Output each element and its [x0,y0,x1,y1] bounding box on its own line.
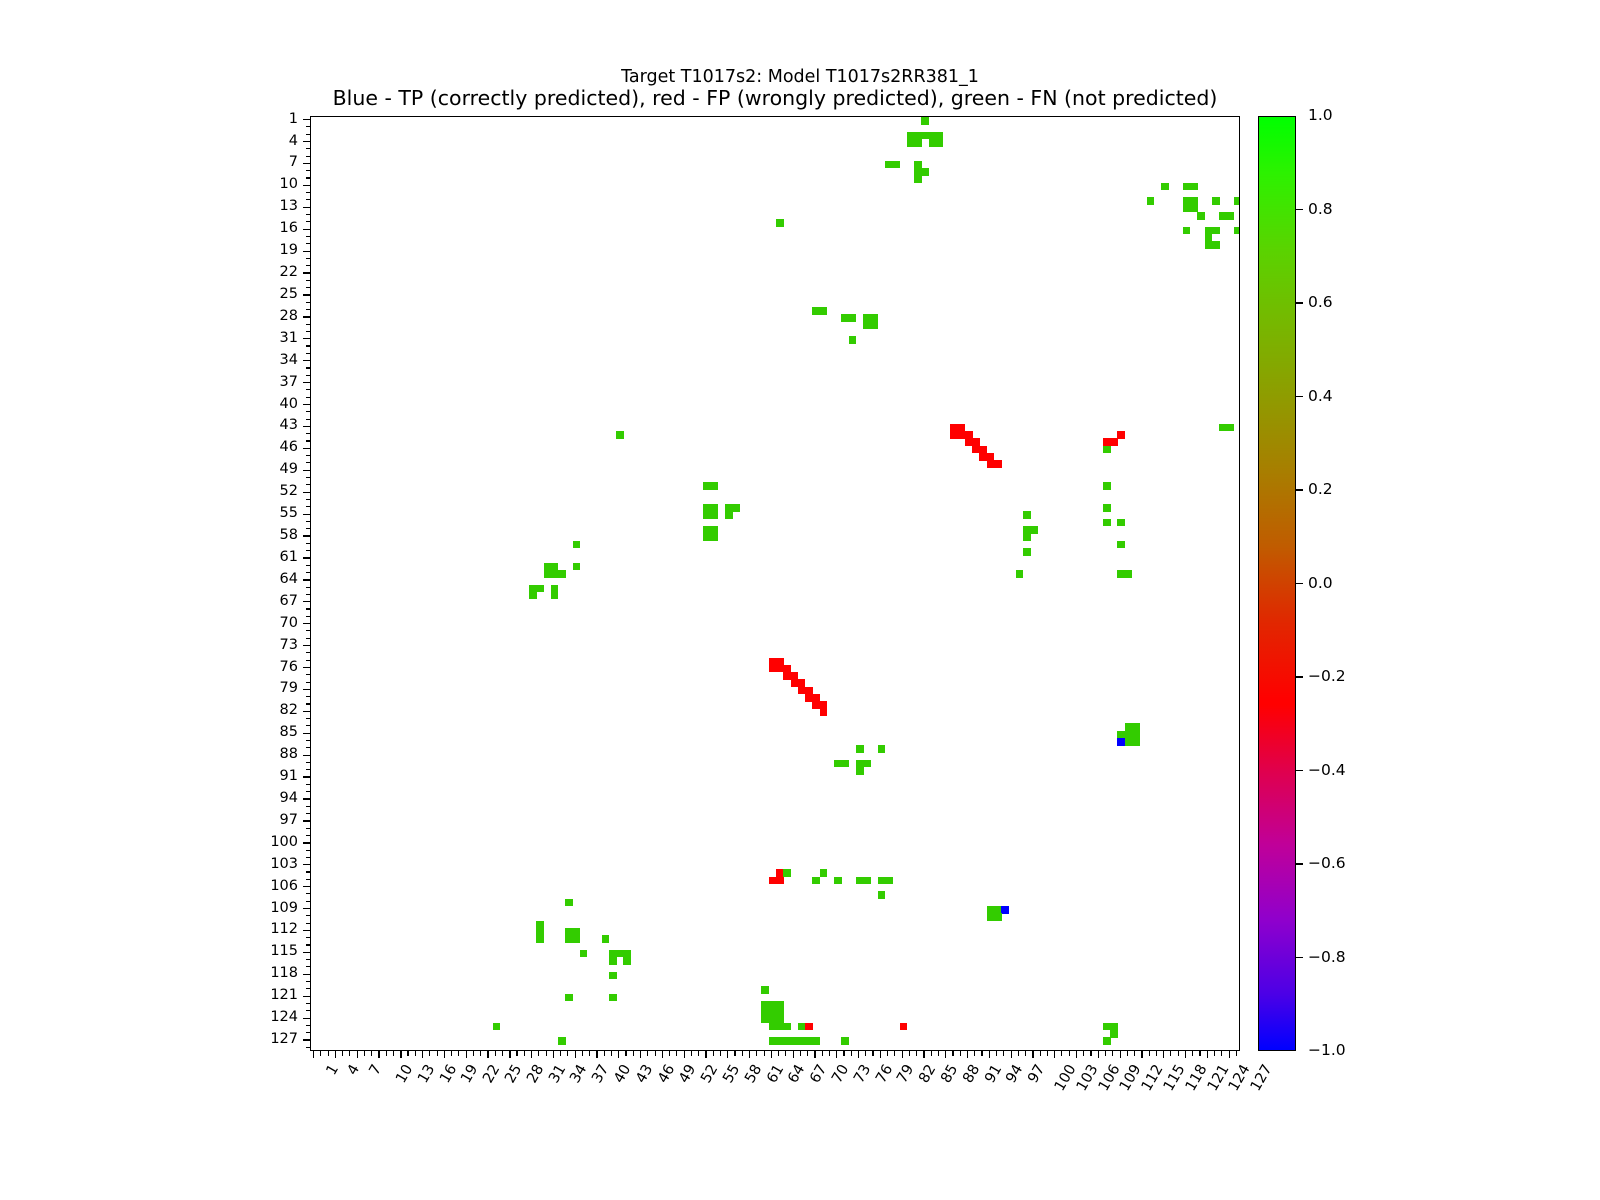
x-tick-98 [1018,1051,1019,1056]
x-tick-74 [843,1051,844,1056]
contact-cell-fn [885,877,893,885]
colorbar-tick-label-0.8: 0.8 [1308,200,1333,218]
x-tick-label-82: 82 [916,1062,939,1086]
y-tick-112 [303,930,310,931]
y-tick-label-25: 25 [240,286,298,302]
y-tick-83 [306,718,311,719]
y-tick-15 [306,221,311,222]
x-tick-2 [320,1051,321,1056]
contact-cell-fn [573,541,581,549]
x-tick-96 [1003,1051,1004,1056]
x-tick-58 [727,1051,728,1058]
contact-cell-fn [994,913,1002,921]
y-tick-66 [306,594,311,595]
y-tick-123 [306,1010,311,1011]
contact-cell-fn [493,1023,501,1031]
x-tick-102 [1047,1051,1048,1056]
y-tick-49 [303,470,310,471]
y-tick-label-28: 28 [240,308,298,324]
x-tick-111 [1112,1051,1113,1056]
x-tick-label-55: 55 [720,1062,743,1086]
x-tick-29 [516,1051,517,1056]
x-tick-56 [713,1051,714,1056]
x-tick-64 [771,1051,772,1058]
contact-cell-fp [820,709,828,717]
y-tick-60 [306,550,311,551]
contact-cell-fn [1023,511,1031,519]
y-tick-82 [303,711,310,712]
x-tick-118 [1163,1051,1164,1058]
x-tick-label-106: 106 [1095,1062,1123,1094]
y-tick-label-58: 58 [240,527,298,543]
y-tick-7 [303,163,310,164]
x-tick-49 [662,1051,663,1058]
y-tick-label-76: 76 [240,659,298,675]
contact-cell-fn [609,972,617,980]
y-tick-47 [306,455,311,456]
contact-map-cells [311,117,1239,1050]
y-tick-label-91: 91 [240,768,298,784]
x-tick-label-31: 31 [546,1062,569,1086]
y-tick-76 [303,667,310,668]
x-tick-label-100: 100 [1052,1062,1080,1094]
y-tick-97 [303,820,310,821]
x-tick-94 [989,1051,990,1058]
y-tick-114 [306,944,311,945]
x-tick-47 [647,1051,648,1056]
x-tick-85 [923,1051,924,1058]
y-tick-12 [306,199,311,200]
y-tick-119 [306,981,311,982]
contact-cell-fn [921,117,929,125]
x-tick-101 [1040,1051,1041,1056]
colorbar-tick-label-−0.4: −0.4 [1308,761,1346,779]
contact-cell-fn [565,899,573,907]
y-tick-108 [306,901,311,902]
y-tick-70 [303,623,310,624]
y-tick-110 [306,915,311,916]
y-tick-41 [306,411,311,412]
x-tick-label-118: 118 [1183,1062,1211,1094]
y-tick-label-49: 49 [240,461,298,477]
y-tick-78 [306,682,311,683]
x-tick-label-7: 7 [367,1062,385,1078]
y-tick-81 [306,703,311,704]
x-tick-28 [509,1051,510,1058]
contact-cell-fn [1110,1030,1118,1038]
contact-cell-fn [623,957,631,965]
contact-cell-fn [863,877,871,885]
y-tick-label-115: 115 [240,943,298,959]
y-tick-115 [303,952,310,953]
x-tick-109 [1098,1051,1099,1058]
colorbar-gradient [1258,116,1296,1051]
x-tick-69 [807,1051,808,1056]
contact-cell-fn [1023,548,1031,556]
x-tick-15 [415,1051,416,1056]
x-tick-125 [1214,1051,1215,1056]
y-tick-label-118: 118 [240,965,298,981]
y-tick-11 [306,192,311,193]
y-tick-39 [306,397,311,398]
x-tick-55 [705,1051,706,1058]
contact-map-plot-area[interactable] [310,116,1240,1051]
y-tick-65 [306,587,311,588]
y-tick-35 [306,367,311,368]
x-tick-123 [1199,1051,1200,1056]
x-tick-label-103: 103 [1074,1062,1102,1094]
x-tick-63 [764,1051,765,1056]
x-tick-59 [734,1051,735,1056]
contact-cell-fn [580,950,588,958]
colorbar-tick-0.4 [1296,396,1303,397]
x-tick-46 [640,1051,641,1058]
x-tick-110 [1105,1051,1106,1056]
y-tick-120 [306,988,311,989]
y-tick-48 [306,462,311,463]
x-tick-43 [618,1051,619,1058]
contact-cell-fn [1103,482,1111,490]
x-tick-61 [749,1051,750,1058]
x-tick-97 [1011,1051,1012,1058]
contact-cell-fn [921,168,929,176]
contact-cell-tp [1001,906,1009,914]
contact-cell-fp [994,460,1002,468]
y-tick-label-106: 106 [240,878,298,894]
colorbar-tick-0.2 [1296,489,1303,490]
x-tick-36 [567,1051,568,1056]
x-tick-8 [364,1051,365,1056]
contact-cell-fn [1226,424,1234,432]
x-tick-66 [785,1051,786,1056]
x-tick-72 [829,1051,830,1056]
x-tick-label-34: 34 [568,1062,591,1086]
x-tick-78 [872,1051,873,1056]
y-tick-17 [306,236,311,237]
contact-cell-fn [820,869,828,877]
x-tick-18 [437,1051,438,1056]
y-tick-52 [303,492,310,493]
y-tick-22 [303,272,310,273]
contact-cell-fn [1234,227,1240,235]
y-tick-99 [306,835,311,836]
y-tick-label-55: 55 [240,505,298,521]
contact-cell-fn [616,431,624,439]
y-tick-23 [306,280,311,281]
y-tick-19 [303,251,310,252]
x-tick-60 [742,1051,743,1056]
y-tick-label-103: 103 [240,856,298,872]
y-tick-label-124: 124 [240,1009,298,1025]
y-tick-10 [303,185,310,186]
contact-cell-fn [536,935,544,943]
x-tick-label-28: 28 [524,1062,547,1086]
x-tick-label-127: 127 [1248,1062,1276,1094]
contact-cell-fn [1103,519,1111,527]
y-tick-9 [306,177,311,178]
y-tick-14 [306,214,311,215]
contact-cell-fn [812,877,820,885]
x-tick-33 [546,1051,547,1056]
colorbar-tick-label-0.2: 0.2 [1308,480,1333,498]
contact-cell-fn [1117,519,1125,527]
contact-cell-fn [863,760,871,768]
contact-cell-fp [1117,431,1125,439]
y-tick-77 [306,674,311,675]
x-tick-92 [974,1051,975,1056]
x-tick-12 [393,1051,394,1056]
y-tick-3 [306,134,311,135]
x-tick-45 [633,1051,634,1056]
x-tick-114 [1134,1051,1135,1056]
x-tick-62 [756,1051,757,1056]
x-tick-90 [960,1051,961,1056]
x-tick-106 [1076,1051,1077,1058]
x-tick-label-43: 43 [633,1062,656,1086]
y-tick-25 [303,294,310,295]
y-tick-45 [306,440,311,441]
x-tick-22 [466,1051,467,1058]
contact-cell-fn [711,511,719,519]
x-tick-label-13: 13 [415,1062,438,1086]
x-tick-32 [538,1051,539,1056]
contact-cell-fn [856,767,864,775]
x-tick-label-37: 37 [589,1062,612,1086]
x-tick-label-73: 73 [851,1062,874,1086]
x-tick-42 [611,1051,612,1056]
contact-cell-fn [914,175,922,183]
contact-cell-fn [834,877,842,885]
x-tick-108 [1090,1051,1091,1056]
y-tick-75 [306,660,311,661]
x-tick-77 [865,1051,866,1056]
x-tick-label-97: 97 [1025,1062,1048,1086]
x-tick-19 [444,1051,445,1058]
contact-cell-fn [602,935,610,943]
y-tick-125 [306,1025,311,1026]
y-tick-74 [306,652,311,653]
y-tick-5 [306,148,311,149]
contact-cell-fn [558,1037,566,1045]
contact-cell-fn [573,935,581,943]
x-tick-113 [1127,1051,1128,1056]
x-tick-87 [938,1051,939,1056]
y-tick-63 [306,572,311,573]
y-tick-50 [306,477,311,478]
y-tick-36 [306,375,311,376]
x-tick-117 [1156,1051,1157,1056]
y-tick-53 [306,499,311,500]
contact-cell-fn [1016,570,1024,578]
colorbar-tick-label-−1.0: −1.0 [1308,1041,1346,1059]
x-tick-115 [1141,1051,1142,1058]
x-tick-84 [916,1051,917,1056]
y-tick-91 [303,776,310,777]
y-tick-58 [303,535,310,536]
x-tick-51 [676,1051,677,1056]
contact-cell-fn [558,570,566,578]
y-tick-label-73: 73 [240,637,298,653]
x-tick-7 [357,1051,358,1058]
y-tick-128 [306,1047,311,1048]
x-tick-label-79: 79 [895,1062,918,1086]
colorbar-tick-−0.2 [1296,676,1303,677]
x-tick-5 [342,1051,343,1056]
y-tick-100 [303,842,310,843]
x-tick-4 [335,1051,336,1058]
contact-cell-fn [536,585,544,593]
colorbar-tick-label-0.4: 0.4 [1308,387,1333,405]
x-tick-71 [822,1051,823,1056]
contact-cell-fn [820,307,828,315]
contact-cell-fn [1226,212,1234,220]
y-tick-126 [306,1032,311,1033]
y-tick-2 [306,126,311,127]
y-tick-label-70: 70 [240,615,298,631]
x-tick-119 [1170,1051,1171,1056]
x-tick-105 [1069,1051,1070,1056]
contact-cell-fn [776,219,784,227]
contact-cell-fn [1103,446,1111,454]
y-tick-6 [306,156,311,157]
y-tick-label-88: 88 [240,746,298,762]
contact-cell-fn [812,1037,820,1045]
y-tick-label-61: 61 [240,549,298,565]
y-tick-label-31: 31 [240,330,298,346]
y-tick-107 [306,893,311,894]
x-tick-27 [502,1051,503,1056]
y-tick-113 [306,937,311,938]
x-tick-37 [575,1051,576,1058]
y-tick-40 [303,404,310,405]
y-tick-59 [306,543,311,544]
x-tick-24 [480,1051,481,1056]
y-tick-90 [306,769,311,770]
x-tick-14 [407,1051,408,1056]
x-tick-label-112: 112 [1139,1062,1167,1094]
x-tick-107 [1083,1051,1084,1056]
y-tick-118 [303,974,310,975]
contact-cell-fn [1103,1037,1111,1045]
y-tick-label-85: 85 [240,724,298,740]
y-tick-117 [306,966,311,967]
y-tick-16 [303,229,310,230]
y-tick-127 [303,1039,310,1040]
contact-cell-fn [870,322,878,330]
y-tick-43 [303,426,310,427]
contact-cell-fn [1161,183,1169,191]
x-tick-11 [386,1051,387,1056]
y-tick-label-127: 127 [240,1031,298,1047]
y-tick-67 [303,601,310,602]
y-tick-96 [306,813,311,814]
x-tick-label-40: 40 [611,1062,634,1086]
contact-cell-fn [551,592,559,600]
contact-cell-fn [849,314,857,322]
y-tick-101 [306,850,311,851]
y-tick-label-112: 112 [240,921,298,937]
y-tick-label-40: 40 [240,396,298,412]
x-tick-81 [894,1051,895,1056]
x-tick-53 [691,1051,692,1056]
x-tick-95 [996,1051,997,1056]
y-tick-92 [306,784,311,785]
y-tick-73 [303,645,310,646]
x-tick-6 [349,1051,350,1056]
x-tick-93 [981,1051,982,1056]
x-tick-label-61: 61 [764,1062,787,1086]
y-tick-1 [303,119,310,120]
y-tick-26 [306,302,311,303]
y-tick-71 [306,630,311,631]
y-tick-72 [306,638,311,639]
x-tick-76 [858,1051,859,1058]
x-tick-82 [902,1051,903,1058]
x-tick-16 [422,1051,423,1058]
y-tick-label-10: 10 [240,176,298,192]
y-tick-95 [306,806,311,807]
x-tick-label-25: 25 [502,1062,525,1086]
y-tick-85 [303,733,310,734]
y-tick-88 [303,755,310,756]
colorbar-tick-−0.8 [1296,957,1303,958]
x-tick-50 [669,1051,670,1056]
y-tick-55 [303,514,310,515]
contact-cell-fn [878,891,886,899]
x-tick-39 [589,1051,590,1056]
x-tick-25 [487,1051,488,1058]
y-tick-label-4: 4 [240,133,298,149]
x-tick-17 [429,1051,430,1056]
contact-cell-fn [609,994,617,1002]
contact-cell-fn [1023,533,1031,541]
contact-cell-fn [1234,197,1240,205]
y-tick-46 [303,448,310,449]
y-tick-34 [303,360,310,361]
contact-cell-fn [529,592,537,600]
contact-cell-fn [1117,541,1125,549]
x-tick-label-67: 67 [807,1062,830,1086]
y-tick-18 [306,243,311,244]
y-tick-30 [306,331,311,332]
y-tick-37 [303,382,310,383]
y-tick-54 [306,506,311,507]
y-tick-label-67: 67 [240,593,298,609]
x-tick-3 [328,1051,329,1056]
contact-cell-fn [711,482,719,490]
x-tick-38 [582,1051,583,1056]
colorbar-tick-label-1.0: 1.0 [1308,106,1333,124]
y-tick-124 [303,1018,310,1019]
colorbar-tick-label-0.6: 0.6 [1308,293,1333,311]
colorbar-tick-0.6 [1296,302,1303,303]
x-tick-57 [720,1051,721,1056]
x-tick-label-109: 109 [1117,1062,1145,1094]
x-tick-68 [800,1051,801,1056]
y-tick-84 [306,725,311,726]
x-tick-41 [604,1051,605,1056]
y-tick-44 [306,433,311,434]
contact-cell-fn [761,986,769,994]
x-tick-65 [778,1051,779,1056]
y-tick-label-82: 82 [240,702,298,718]
x-tick-13 [400,1051,401,1058]
y-tick-label-22: 22 [240,264,298,280]
contact-cell-fn [856,745,864,753]
x-tick-67 [793,1051,794,1058]
y-tick-62 [306,565,311,566]
contact-cell-fn [1125,570,1133,578]
